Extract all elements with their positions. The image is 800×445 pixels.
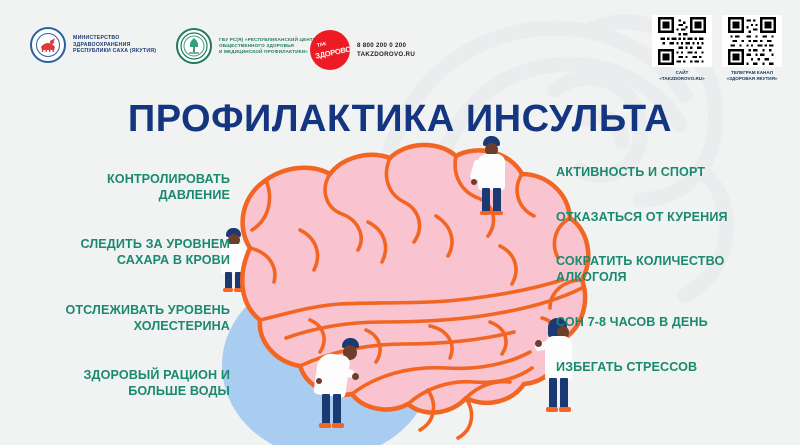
tip-left-1-line-1: СЛЕДИТЬ ЗА УРОВНЕМ — [14, 237, 230, 253]
tip-reduce-alcohol: СОКРАТИТЬ КОЛИЧЕСТВО АЛКОГОЛЯ — [556, 254, 786, 285]
logo-minzdrav-text: МИНИСТЕРСТВО ЗДРАВООХРАНЕНИЯ РЕСПУБЛИКИ … — [73, 35, 156, 55]
tip-right-3-line-1: СОН 7-8 ЧАСОВ В ДЕНЬ — [556, 315, 786, 331]
tip-left-0-line-2: ДАВЛЕНИЕ — [14, 188, 230, 204]
tip-left-1-line-2: САХАРА В КРОВИ — [14, 253, 230, 269]
qr-telegram-icon[interactable] — [722, 15, 782, 67]
tips-left-column: КОНТРОЛИРОВАТЬ ДАВЛЕНИЕ СЛЕДИТЬ ЗА УРОВН… — [14, 172, 230, 434]
qr-site-icon[interactable] — [652, 15, 712, 67]
minzdrav-line-3: РЕСПУБЛИКИ САХА (ЯКУТИЯ) — [73, 48, 156, 55]
takzdorovo-badge-line-1: ТАК — [316, 41, 326, 49]
tip-left-3-line-1: ЗДОРОВЫЙ РАЦИОН И — [14, 368, 230, 384]
tip-quit-smoking: ОТКАЗАТЬСЯ ОТ КУРЕНИЯ — [556, 210, 786, 226]
tip-monitor-blood-sugar: СЛЕДИТЬ ЗА УРОВНЕМ САХАРА В КРОВИ — [14, 237, 230, 268]
center-line-3: И МЕДИЦИНСКОЙ ПРОФИЛАКТИКИ» — [219, 49, 316, 55]
logo-republican-center: ГБУ РС(Я) «РЕСПУБЛИКАНСКИЙ ЦЕНТР ОБЩЕСТВ… — [176, 28, 316, 64]
tip-control-blood-pressure: КОНТРОЛИРОВАТЬ ДАВЛЕНИЕ — [14, 172, 230, 203]
qr-code-block: САЙТ «TAKZDOROVO.RU» — [652, 15, 782, 81]
takzdorovo-badge-icon: ТАК ЗДОРОВО — [310, 30, 350, 70]
takzdorovo-site: TAKZDOROVO.RU — [357, 50, 415, 59]
tip-monitor-cholesterol: ОТСЛЕЖИВАТЬ УРОВЕНЬ ХОЛЕСТЕРИНА — [14, 303, 230, 334]
takzdorovo-phone: 8 800 200 0 200 — [357, 41, 415, 50]
tip-right-1-line-1: ОТКАЗАТЬСЯ ОТ КУРЕНИЯ — [556, 210, 786, 226]
takzdorovo-contact: 8 800 200 0 200 TAKZDOROVO.RU — [357, 41, 415, 60]
tip-right-2-line-2: АЛКОГОЛЯ — [556, 270, 786, 286]
qr-telegram-item[interactable]: ТЕЛЕГРАМ КАНАЛ «ЗДОРОВАЯ ЯКУТИЯ» — [722, 15, 782, 81]
tip-left-2-line-1: ОТСЛЕЖИВАТЬ УРОВЕНЬ — [14, 303, 230, 319]
tip-left-0-line-1: КОНТРОЛИРОВАТЬ — [14, 172, 230, 188]
logo-takzdorovo: ТАК ЗДОРОВО 8 800 200 0 200 TAKZDOROVO.R… — [310, 30, 415, 70]
tip-activity-sport: АКТИВНОСТЬ И СПОРТ — [556, 165, 786, 181]
header-logos: МИНИСТЕРСТВО ЗДРАВООХРАНЕНИЯ РЕСПУБЛИКИ … — [0, 0, 800, 88]
qr-telegram-caption-line-2: «ЗДОРОВАЯ ЯКУТИЯ» — [727, 76, 778, 82]
tip-sleep-7-8-hours: СОН 7-8 ЧАСОВ В ДЕНЬ — [556, 315, 786, 331]
tip-right-2-line-1: СОКРАТИТЬ КОЛИЧЕСТВО — [556, 254, 786, 270]
doctor-figure-top — [468, 136, 514, 216]
tip-left-2-line-2: ХОЛЕСТЕРИНА — [14, 319, 230, 335]
logo-minzdrav-sakha: МИНИСТЕРСТВО ЗДРАВООХРАНЕНИЯ РЕСПУБЛИКИ … — [30, 27, 156, 63]
horseman-emblem-icon — [30, 27, 66, 63]
qr-site-item[interactable]: САЙТ «TAKZDOROVO.RU» — [652, 15, 712, 81]
qr-telegram-caption: ТЕЛЕГРАМ КАНАЛ «ЗДОРОВАЯ ЯКУТИЯ» — [727, 70, 778, 81]
qr-site-caption-line-2: «TAKZDOROVO.RU» — [659, 76, 704, 82]
qr-site-caption: САЙТ «TAKZDOROVO.RU» — [659, 70, 704, 81]
tip-left-3-line-2: БОЛЬШЕ ВОДЫ — [14, 384, 230, 400]
tips-right-column: АКТИВНОСТЬ И СПОРТ ОТКАЗАТЬСЯ ОТ КУРЕНИЯ… — [556, 165, 786, 404]
qr-telegram-caption-line-1: ТЕЛЕГРАМ КАНАЛ — [727, 70, 778, 76]
tree-emblem-icon — [176, 28, 212, 64]
tip-right-0-line-1: АКТИВНОСТЬ И СПОРТ — [556, 165, 786, 181]
doctor-figure-bottom — [312, 338, 368, 432]
tip-avoid-stress: ИЗБЕГАТЬ СТРЕССОВ — [556, 360, 786, 376]
minzdrav-line-2: ЗДРАВООХРАНЕНИЯ — [73, 42, 156, 49]
minzdrav-line-1: МИНИСТЕРСТВО — [73, 35, 156, 42]
tip-right-4-line-1: ИЗБЕГАТЬ СТРЕССОВ — [556, 360, 786, 376]
tip-healthy-diet-water: ЗДОРОВЫЙ РАЦИОН И БОЛЬШЕ ВОДЫ — [14, 368, 230, 399]
logo-center-text: ГБУ РС(Я) «РЕСПУБЛИКАНСКИЙ ЦЕНТР ОБЩЕСТВ… — [219, 37, 316, 55]
stroke-prevention-poster: МИНИСТЕРСТВО ЗДРАВООХРАНЕНИЯ РЕСПУБЛИКИ … — [0, 0, 800, 445]
